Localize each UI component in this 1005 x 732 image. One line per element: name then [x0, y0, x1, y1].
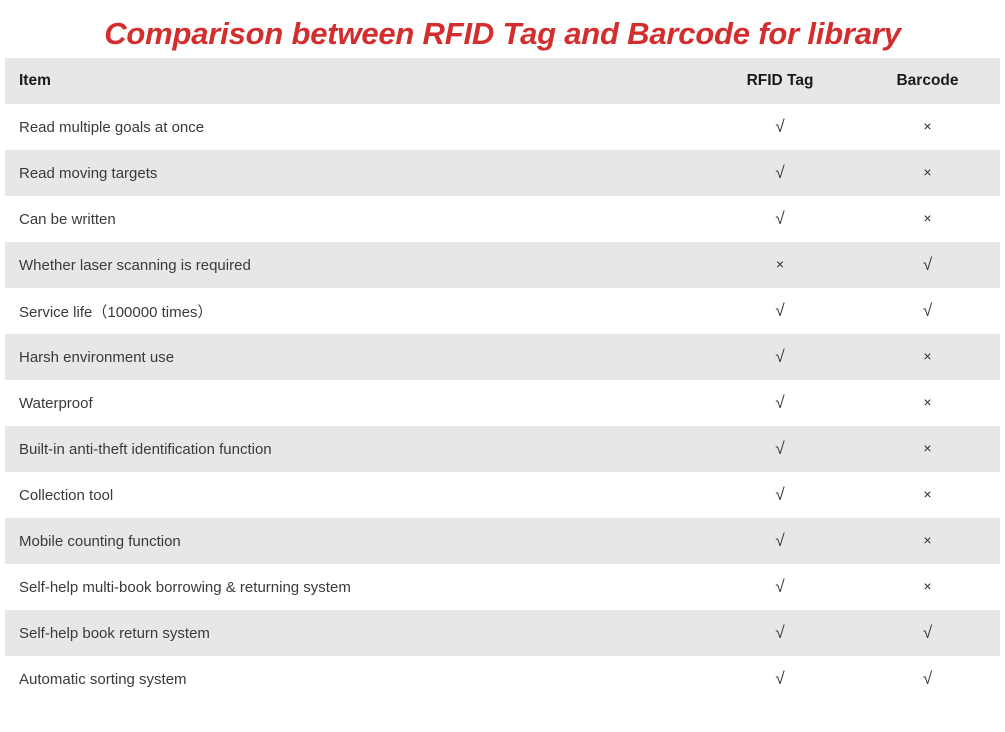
check-mark-icon: √ — [923, 669, 932, 688]
cell-item: Service life（100000 times） — [5, 288, 705, 334]
column-header-item: Item — [5, 58, 705, 104]
cell-item: Built-in anti-theft identification funct… — [5, 426, 705, 472]
page-title: Comparison between RFID Tag and Barcode … — [0, 0, 1005, 58]
cell-rfid-tag: √ — [705, 472, 855, 518]
cell-barcode: × — [855, 564, 1000, 610]
check-mark-icon: √ — [775, 485, 784, 504]
table-row: Can be written√× — [5, 196, 1000, 242]
cross-mark-icon: × — [923, 210, 931, 226]
check-mark-icon: √ — [775, 393, 784, 412]
cell-item: Automatic sorting system — [5, 656, 705, 702]
cell-item: Read moving targets — [5, 150, 705, 196]
cell-item: Read multiple goals at once — [5, 104, 705, 150]
cell-rfid-tag: √ — [705, 196, 855, 242]
check-mark-icon: √ — [775, 209, 784, 228]
cell-barcode: × — [855, 472, 1000, 518]
check-mark-icon: √ — [775, 163, 784, 182]
cell-barcode: √ — [855, 610, 1000, 656]
cell-item: Collection tool — [5, 472, 705, 518]
cell-item: Can be written — [5, 196, 705, 242]
cell-item: Harsh environment use — [5, 334, 705, 380]
cell-barcode: √ — [855, 288, 1000, 334]
table-row: Read moving targets√× — [5, 150, 1000, 196]
cell-rfid-tag: √ — [705, 288, 855, 334]
column-header-barcode: Barcode — [855, 58, 1000, 104]
cell-barcode: × — [855, 380, 1000, 426]
cell-barcode: × — [855, 104, 1000, 150]
table-row: Self-help book return system√√ — [5, 610, 1000, 656]
check-mark-icon: √ — [775, 439, 784, 458]
cell-barcode: × — [855, 426, 1000, 472]
cell-rfid-tag: √ — [705, 426, 855, 472]
cross-mark-icon: × — [923, 164, 931, 180]
cell-barcode: × — [855, 334, 1000, 380]
table-row: Whether laser scanning is required×√ — [5, 242, 1000, 288]
table-body: Read multiple goals at once√×Read moving… — [5, 104, 1000, 702]
cross-mark-icon: × — [923, 486, 931, 502]
check-mark-icon: √ — [775, 347, 784, 366]
cell-rfid-tag: √ — [705, 104, 855, 150]
table-row: Collection tool√× — [5, 472, 1000, 518]
table-row: Read multiple goals at once√× — [5, 104, 1000, 150]
cell-barcode: √ — [855, 656, 1000, 702]
table-row: Harsh environment use√× — [5, 334, 1000, 380]
cross-mark-icon: × — [923, 394, 931, 410]
cell-rfid-tag: √ — [705, 564, 855, 610]
table-row: Built-in anti-theft identification funct… — [5, 426, 1000, 472]
cross-mark-icon: × — [923, 578, 931, 594]
table-row: Service life（100000 times）√√ — [5, 288, 1000, 334]
cross-mark-icon: × — [923, 348, 931, 364]
table-row: Mobile counting function√× — [5, 518, 1000, 564]
table-row: Waterproof√× — [5, 380, 1000, 426]
check-mark-icon: √ — [775, 669, 784, 688]
cell-rfid-tag: √ — [705, 656, 855, 702]
cell-item: Self-help multi-book borrowing & returni… — [5, 564, 705, 610]
table-header-row: Item RFID Tag Barcode — [5, 58, 1000, 104]
cross-mark-icon: × — [923, 118, 931, 134]
cell-rfid-tag: √ — [705, 610, 855, 656]
cell-item: Mobile counting function — [5, 518, 705, 564]
cell-barcode: × — [855, 196, 1000, 242]
cross-mark-icon: × — [776, 256, 784, 272]
table-row: Automatic sorting system√√ — [5, 656, 1000, 702]
check-mark-icon: √ — [775, 577, 784, 596]
cross-mark-icon: × — [923, 532, 931, 548]
cell-rfid-tag: √ — [705, 518, 855, 564]
table-row: Self-help multi-book borrowing & returni… — [5, 564, 1000, 610]
cell-rfid-tag: √ — [705, 150, 855, 196]
cell-rfid-tag: × — [705, 242, 855, 288]
cell-barcode: × — [855, 518, 1000, 564]
check-mark-icon: √ — [923, 623, 932, 642]
rfid-barcode-comparison-table: Item RFID Tag Barcode Read multiple goal… — [5, 58, 1000, 702]
column-header-rfid-tag: RFID Tag — [705, 58, 855, 104]
check-mark-icon: √ — [775, 623, 784, 642]
table-header: Item RFID Tag Barcode — [5, 58, 1000, 104]
check-mark-icon: √ — [923, 301, 932, 320]
check-mark-icon: √ — [923, 255, 932, 274]
cell-item: Waterproof — [5, 380, 705, 426]
check-mark-icon: √ — [775, 117, 784, 136]
check-mark-icon: √ — [775, 531, 784, 550]
cell-rfid-tag: √ — [705, 334, 855, 380]
cell-item: Whether laser scanning is required — [5, 242, 705, 288]
comparison-table-wrapper: Item RFID Tag Barcode Read multiple goal… — [0, 58, 1005, 702]
comparison-page: Comparison between RFID Tag and Barcode … — [0, 0, 1005, 732]
cross-mark-icon: × — [923, 440, 931, 456]
cell-barcode: √ — [855, 242, 1000, 288]
check-mark-icon: √ — [775, 301, 784, 320]
cell-barcode: × — [855, 150, 1000, 196]
cell-item: Self-help book return system — [5, 610, 705, 656]
cell-rfid-tag: √ — [705, 380, 855, 426]
